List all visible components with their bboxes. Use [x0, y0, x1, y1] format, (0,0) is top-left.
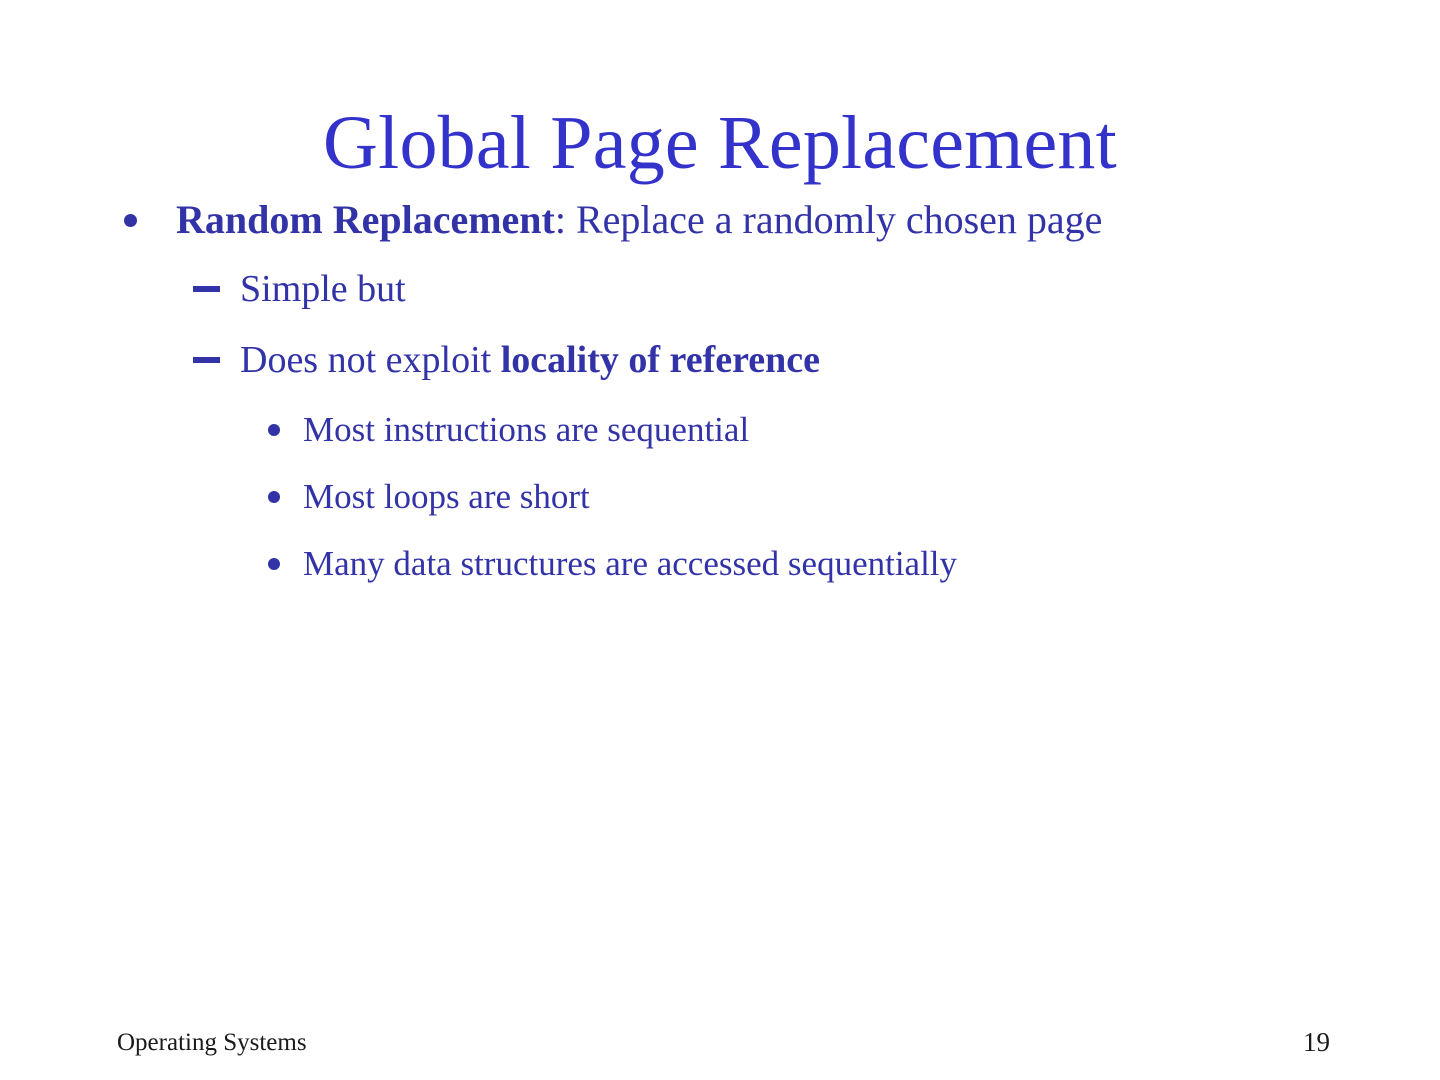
en-dash-icon — [193, 338, 220, 383]
bullet-item: Simple but — [0, 267, 1440, 312]
bullet-bold-tail: locality of reference — [501, 339, 820, 381]
round-bullet-icon — [268, 409, 280, 450]
page-title: Global Page Replacement — [90, 103, 1350, 184]
slide-body: Random Replacement: Replace a randomly c… — [0, 196, 1440, 611]
bullet-item: Random Replacement: Replace a randomly c… — [0, 196, 1440, 243]
bullet-item: Does not exploit locality of reference — [0, 338, 1440, 383]
bullet-item: Most instructions are sequential — [0, 409, 1440, 450]
footer-page-number: 19 — [1303, 1026, 1330, 1058]
round-bullet-icon — [268, 543, 280, 584]
slide: Global Page Replacement Random Replaceme… — [0, 0, 1440, 1080]
bullet-item: Many data structures are accessed sequen… — [0, 543, 1440, 584]
bullet-text: Most loops are short — [303, 477, 590, 516]
round-bullet-icon — [268, 476, 280, 517]
bullet-text: Does not exploit — [240, 339, 501, 381]
bullet-text: Many data structures are accessed sequen… — [303, 544, 957, 583]
bullet-text: Simple but — [240, 268, 406, 310]
footer-course-label: Operating Systems — [117, 1028, 307, 1058]
round-bullet-icon — [124, 196, 154, 243]
bullet-bold-lead: Random Replacement — [176, 197, 555, 242]
bullet-text: Most instructions are sequential — [303, 410, 749, 449]
en-dash-icon — [193, 267, 220, 312]
bullet-text: : Replace a randomly chosen page — [555, 197, 1103, 242]
bullet-item: Most loops are short — [0, 476, 1440, 517]
